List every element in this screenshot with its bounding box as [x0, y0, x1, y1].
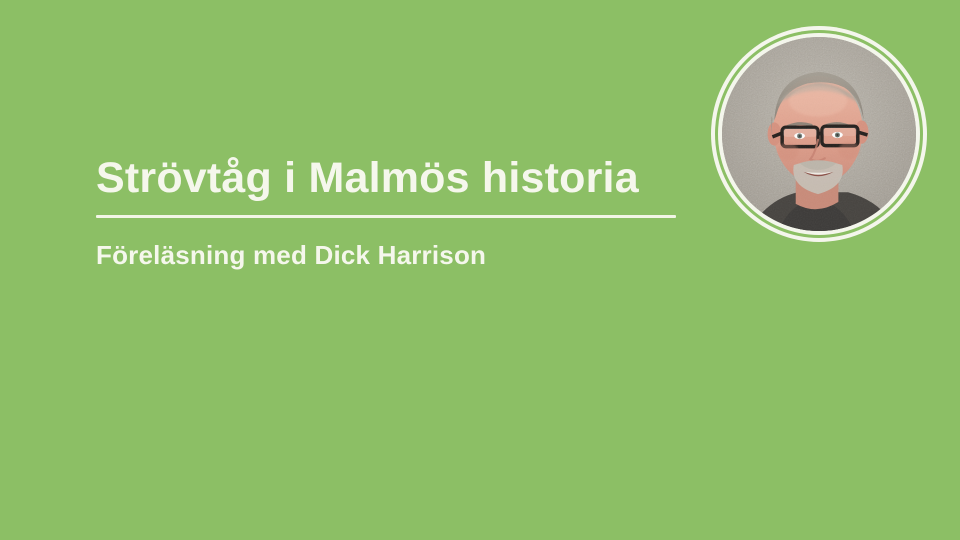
- title-block: Strövtåg i Malmös historia Föreläsning m…: [96, 155, 696, 271]
- page-title: Strövtåg i Malmös historia: [96, 155, 696, 201]
- presentation-slide: Strövtåg i Malmös historia Föreläsning m…: [0, 0, 960, 540]
- subtitle: Föreläsning med Dick Harrison: [96, 218, 696, 271]
- portrait-inner-ring: [718, 33, 920, 235]
- portrait-ring-gap: [715, 30, 923, 238]
- speaker-portrait: [711, 26, 927, 242]
- portrait-illustration: [722, 37, 916, 231]
- portrait-photo: [722, 37, 916, 231]
